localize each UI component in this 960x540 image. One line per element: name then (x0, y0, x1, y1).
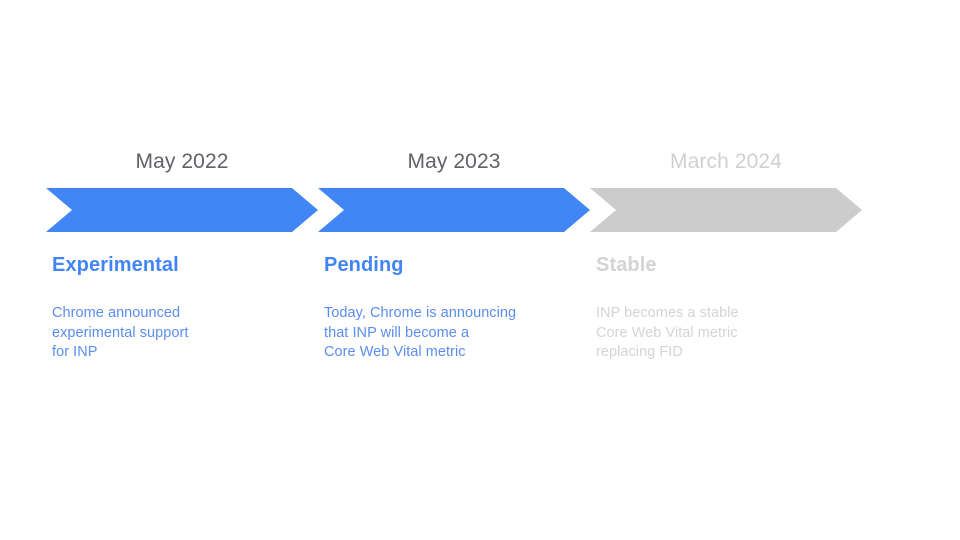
chevron-arrow-stable (590, 188, 862, 232)
timeline-date-march-2024: March 2024 (590, 148, 862, 176)
stage-title-pending: Pending (324, 252, 584, 278)
timeline-stage-stable: Stable INP becomes a stable Core Web Vit… (596, 252, 856, 363)
timeline-date-may-2022: May 2022 (46, 148, 318, 176)
stage-description-stable: INP becomes a stable Core Web Vital metr… (596, 304, 856, 363)
inp-timeline: May 2022 May 2023 March 2024 Experimenta… (46, 148, 862, 388)
timeline-date-row: May 2022 May 2023 March 2024 (46, 148, 862, 182)
timeline-arrow-band (46, 188, 862, 232)
stage-title-experimental: Experimental (52, 252, 312, 278)
stage-description-experimental: Chrome announced experimental support fo… (52, 304, 312, 363)
stage-description-pending: Today, Chrome is announcing that INP wil… (324, 304, 584, 363)
stage-title-stable: Stable (596, 252, 856, 278)
timeline-stage-pending: Pending Today, Chrome is announcing that… (324, 252, 584, 363)
timeline-date-may-2023: May 2023 (318, 148, 590, 176)
chevron-arrow-experimental (46, 188, 318, 232)
timeline-stage-experimental: Experimental Chrome announced experiment… (52, 252, 312, 363)
chevron-arrow-pending (318, 188, 590, 232)
